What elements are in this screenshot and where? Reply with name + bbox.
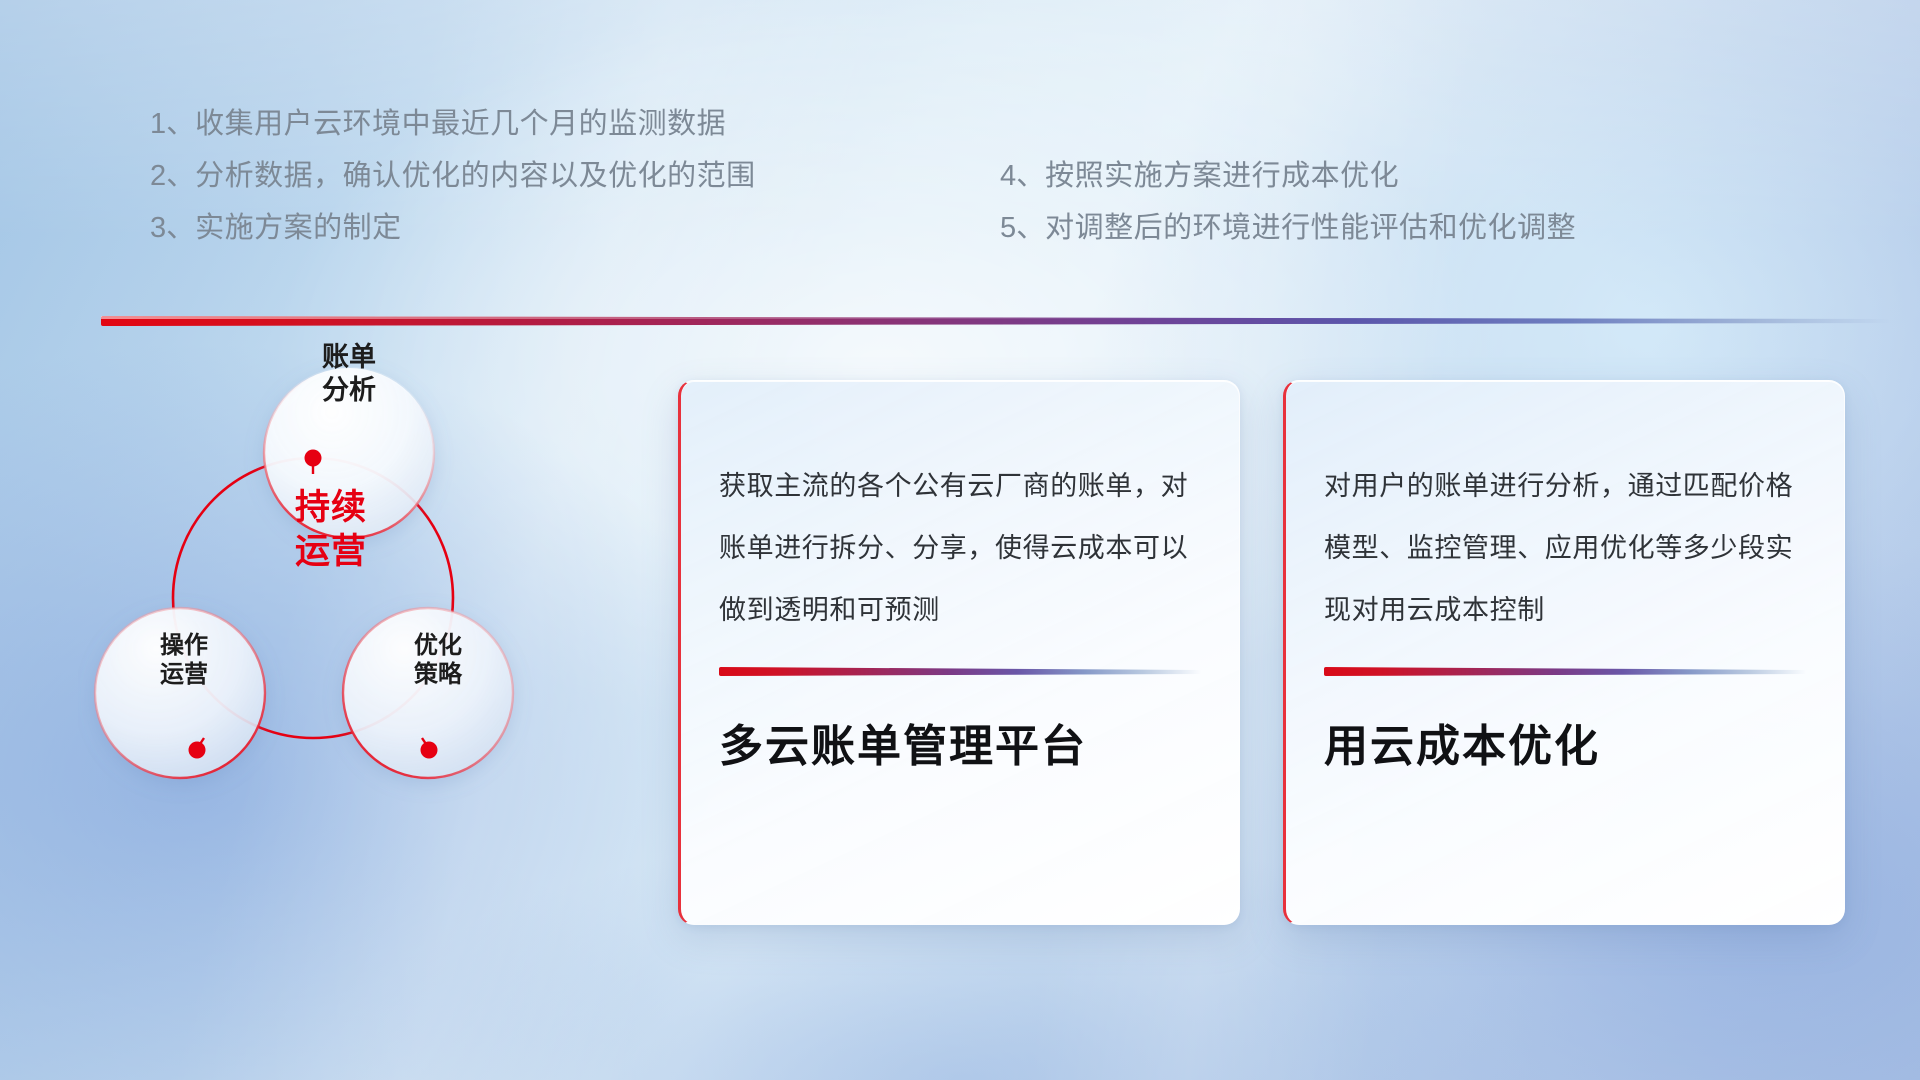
- top-steps-section: 1、收集用户云环境中最近几个月的监测数据 2、分析数据，确认优化的内容以及优化的…: [0, 0, 1920, 260]
- step-text-4: 按照实施方案进行成本优化: [1045, 160, 1399, 192]
- card-cloud-cost-optimization[interactable]: 对用户的账单进行分析，通过匹配价格模型、监控管理、应用优化等多少段实现对用云成本…: [1283, 380, 1845, 925]
- step-text-2: 分析数据，确认优化的内容以及优化的范围: [195, 160, 756, 192]
- step-item-2: 2、分析数据，确认优化的内容以及优化的范围: [150, 150, 756, 202]
- venn-svg: [78, 340, 548, 840]
- junction-dot-bottom-right: [421, 742, 438, 759]
- divider-highlight: [101, 316, 1211, 319]
- card-1-body: 获取主流的各个公有云厂商的账单，对账单进行拆分、分享，使得云成本可以做到透明和可…: [681, 381, 1239, 641]
- step-text-3: 实施方案的制定: [195, 212, 402, 244]
- step-number-5: 5、: [1000, 212, 1045, 244]
- card-1-divider-bar: [719, 667, 1201, 676]
- card-2-title: 用云成本优化: [1286, 710, 1844, 774]
- junction-dot-bottom-left: [189, 742, 206, 759]
- card-multi-cloud-billing[interactable]: 获取主流的各个公有云厂商的账单，对账单进行拆分、分享，使得云成本可以做到透明和可…: [678, 380, 1240, 925]
- step-item-5: 5、对调整后的环境进行性能评估和优化调整: [1000, 202, 1576, 254]
- card-2-divider: [1324, 667, 1806, 676]
- step-text-1: 收集用户云环境中最近几个月的监测数据: [195, 108, 726, 140]
- continuous-operation-diagram: 账单 分析 操作 运营 优化 策略 持续 运营: [78, 340, 548, 840]
- circle-bottom-left: [95, 608, 265, 778]
- circle-top: [264, 368, 434, 538]
- step-text-5: 对调整后的环境进行性能评估和优化调整: [1045, 212, 1576, 244]
- card-2-body: 对用户的账单进行分析，通过匹配价格模型、监控管理、应用优化等多少段实现对用云成本…: [1286, 381, 1844, 641]
- step-item-1: 1、收集用户云环境中最近几个月的监测数据: [150, 98, 756, 150]
- section-divider: [101, 316, 1891, 326]
- steps-right-column: 4、按照实施方案进行成本优化 5、对调整后的环境进行性能评估和优化调整: [1000, 150, 1576, 254]
- card-2-divider-bar: [1324, 667, 1806, 676]
- step-number-4: 4、: [1000, 160, 1045, 192]
- step-item-4: 4、按照实施方案进行成本优化: [1000, 150, 1576, 202]
- step-number-1: 1、: [150, 108, 195, 140]
- card-1-divider: [719, 667, 1201, 676]
- step-item-3: 3、实施方案的制定: [150, 202, 756, 254]
- step-number-3: 3、: [150, 212, 195, 244]
- card-1-title: 多云账单管理平台: [681, 710, 1239, 774]
- step-number-2: 2、: [150, 160, 195, 192]
- steps-left-column: 1、收集用户云环境中最近几个月的监测数据 2、分析数据，确认优化的内容以及优化的…: [150, 98, 756, 254]
- junction-dot-top: [305, 450, 322, 467]
